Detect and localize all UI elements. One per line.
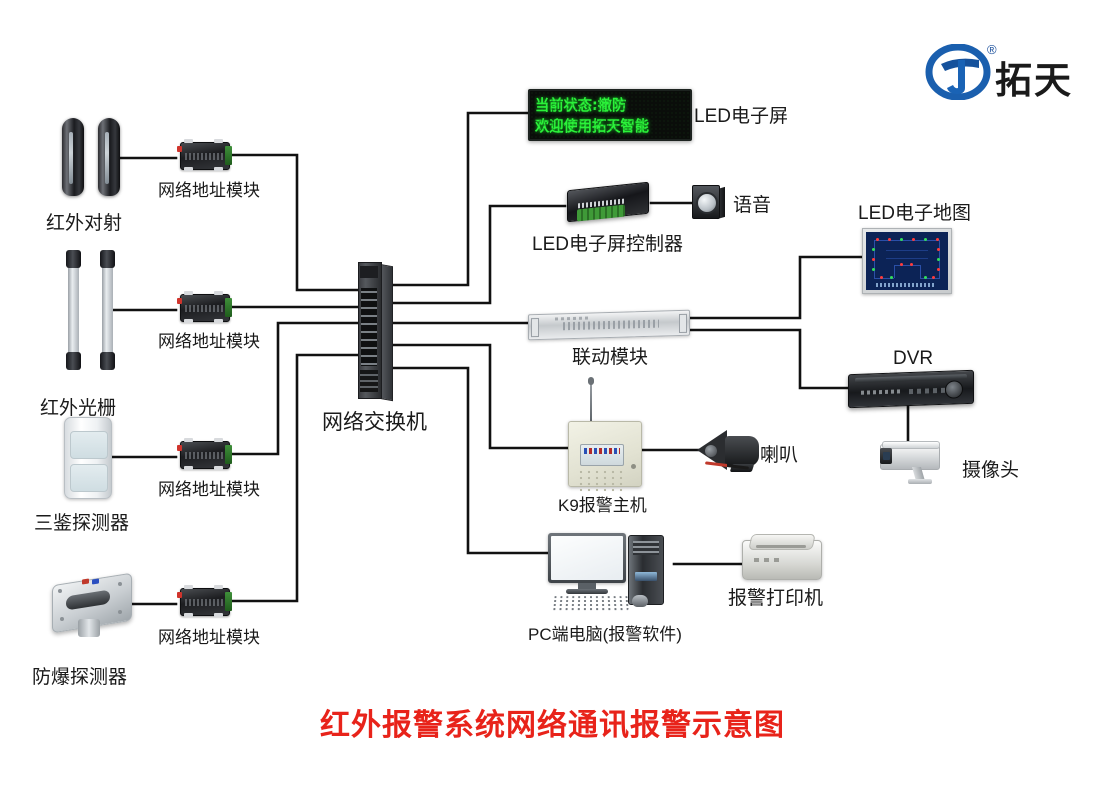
voice-speaker-icon <box>692 185 726 219</box>
linkage-module-label: 联动模块 <box>572 342 648 369</box>
k9-alarm-host-label: K9报警主机 <box>558 491 647 516</box>
explosion-detector-label: 防爆探测器 <box>32 662 127 689</box>
address-module-4-icon <box>176 583 232 619</box>
address-module-3-label: 网络地址模块 <box>158 475 260 500</box>
grating-sensor-label: 红外光栅 <box>40 393 116 420</box>
brand-logo: ® 拓天 <box>925 42 1100 104</box>
pir-detector-label: 三鉴探测器 <box>34 508 129 535</box>
tuotian-logo-icon <box>925 44 991 100</box>
address-module-1-label: 网络地址模块 <box>158 176 260 201</box>
address-module-2-label: 网络地址模块 <box>158 327 260 352</box>
dvr-label: DVR <box>893 348 933 370</box>
camera-icon <box>880 442 954 484</box>
beam-sensor-label: 红外对射 <box>46 208 122 235</box>
pc-label: PC端电脑(报警软件) <box>528 620 682 645</box>
brand-name: 拓天 <box>995 50 1073 104</box>
pir-detector-icon <box>64 417 112 499</box>
linkage-module-icon <box>528 310 690 341</box>
address-module-1-icon <box>176 137 232 173</box>
printer-label: 报警打印机 <box>728 583 823 610</box>
address-module-2-icon <box>176 289 232 325</box>
voice-label: 语音 <box>733 190 771 217</box>
explosion-detector-icon <box>48 573 136 637</box>
address-module-3-icon <box>176 436 232 472</box>
led-screen-icon: 当前状态:撤防 欢迎使用拓天智能 <box>528 89 692 141</box>
led-map-icon <box>862 228 952 294</box>
page-title: 红外报警系统网络通讯报警示意图 <box>0 700 1105 744</box>
alarm-printer-icon <box>742 534 820 580</box>
k9-alarm-host-icon <box>568 409 640 485</box>
network-switch-icon <box>358 262 392 397</box>
address-module-4-label: 网络地址模块 <box>158 623 260 648</box>
pc-workstation-icon <box>548 533 674 611</box>
camera-label: 摄像头 <box>962 455 1019 482</box>
network-switch-label: 网络交换机 <box>322 406 427 436</box>
led-screen-label: LED电子屏 <box>694 101 788 128</box>
dvr-icon <box>848 370 974 408</box>
horn-label: 喇叭 <box>760 440 798 467</box>
led-controller-icon <box>565 186 651 226</box>
led-controller-label: LED电子屏控制器 <box>532 229 683 256</box>
led-map-label: LED电子地图 <box>858 198 971 225</box>
diagram-canvas: ® 拓天 红外对射 红外光栅 三鉴探测器 防爆探测器 网络地址模块 <box>0 0 1105 800</box>
